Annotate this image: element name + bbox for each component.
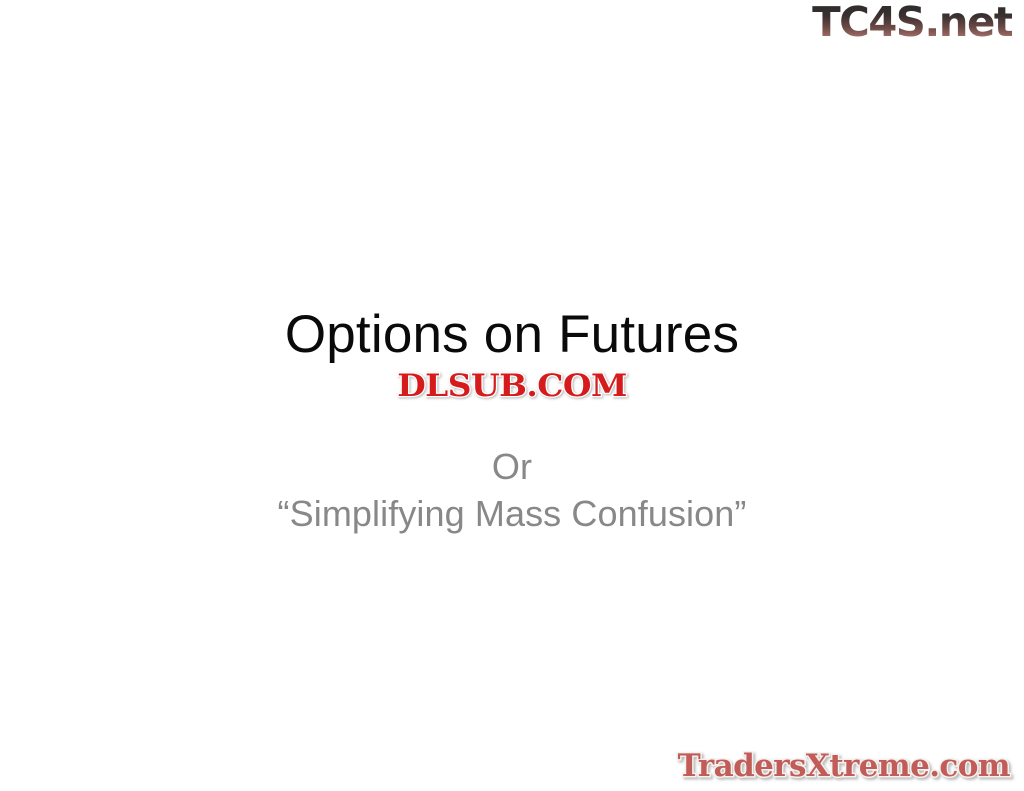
subtitle-line-or: Or — [0, 444, 1024, 491]
slide-content: Options on Futures DLSUB.COM DLSUB.COM O… — [0, 305, 1024, 538]
tc4s-net-logo: TC4S.net — [812, 2, 1012, 43]
subtitle-line-tagline: “Simplifying Mass Confusion” — [0, 491, 1024, 538]
dlsub-watermark: DLSUB.COM DLSUB.COM — [0, 370, 1024, 410]
slide-subtitle: Or “Simplifying Mass Confusion” — [0, 444, 1024, 538]
tradersxtreme-logo: TradersXtreme.com — [678, 749, 1010, 783]
page-title: Options on Futures — [0, 305, 1024, 364]
dlsub-watermark-text: DLSUB.COM — [397, 370, 627, 403]
presentation-slide: TC4S.net Options on Futures DLSUB.COM DL… — [0, 0, 1024, 791]
